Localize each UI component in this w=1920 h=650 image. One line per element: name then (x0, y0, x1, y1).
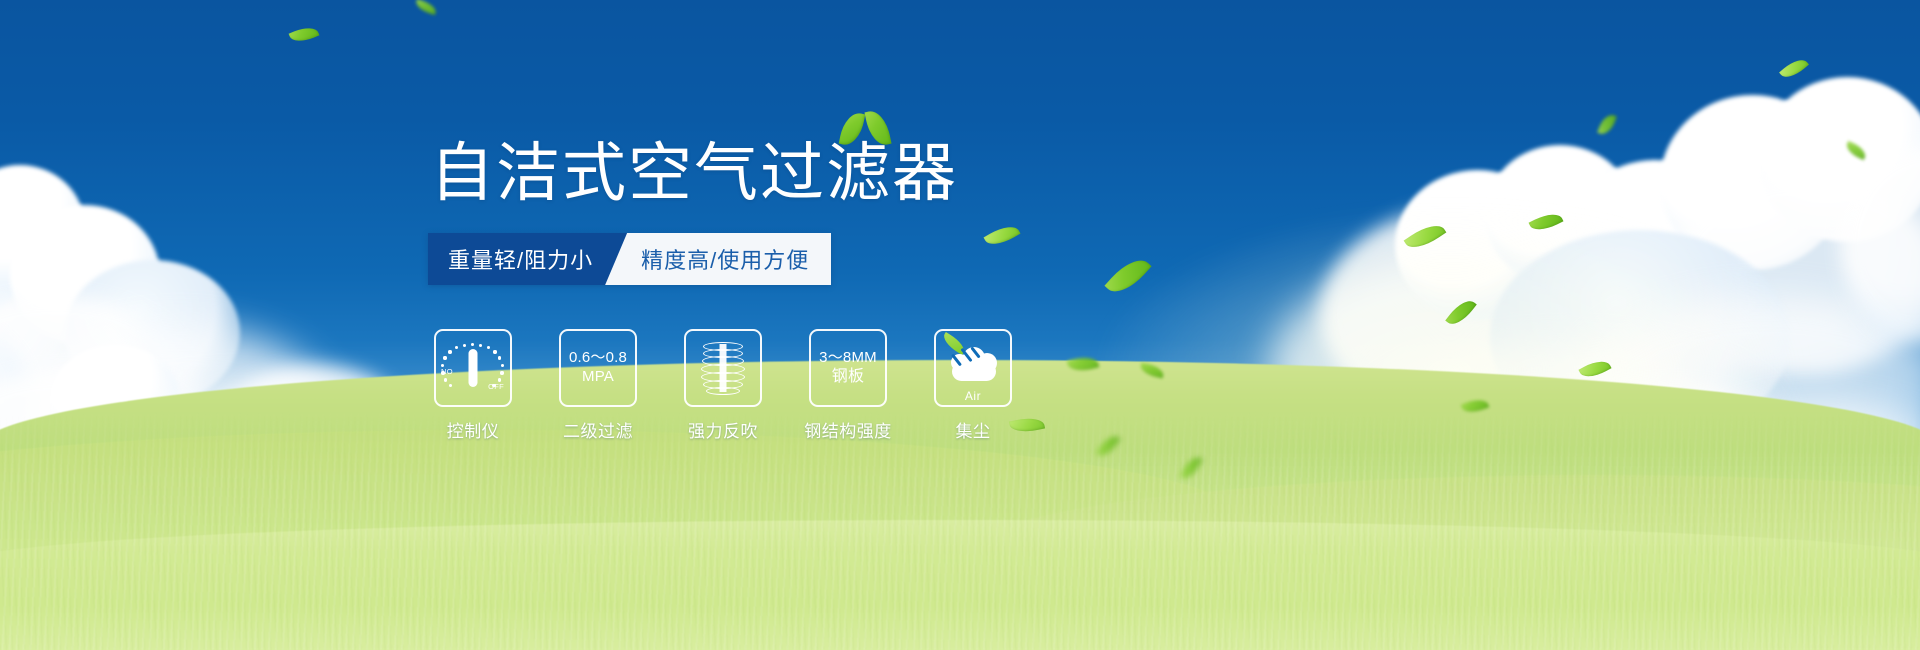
badge-secondary: 精度高/使用方便 (605, 233, 831, 285)
feature-item-pressure: 0.6～0.8 MPA 二级过滤 (559, 329, 637, 442)
page-title: 自洁式空气过滤器 (430, 141, 958, 205)
feature-label-blowback: 强力反吹 (688, 417, 758, 442)
badge-primary: 重量轻/阻力小 (428, 233, 627, 285)
steel-thickness-text: 3～8MM (819, 349, 877, 368)
pressure-unit-text: MPA (582, 368, 614, 387)
feature-label-dust: 集尘 (956, 417, 991, 442)
feature-box-dust: Air (934, 329, 1012, 407)
badge-secondary-label: 精度高/使用方便 (641, 243, 809, 275)
air-cloud-icon: Air (943, 342, 1003, 394)
banner-content: 自洁式空气过滤器 重量轻/阻力小 精度高/使用方便 (0, 0, 1920, 650)
dial-off-label: OFF (488, 382, 504, 391)
dial-pointer (469, 349, 478, 387)
dial-on-label: NO (441, 367, 453, 376)
feature-label-steel: 钢结构强度 (804, 417, 892, 442)
feature-list: NO OFF 控制仪 0.6～0.8 MPA 二级过滤 (434, 329, 1012, 442)
feature-box-blowback (684, 329, 762, 407)
feature-box-steel: 3～8MM 钢板 (809, 329, 887, 407)
filter-coil-icon (695, 340, 751, 396)
feature-item-steel: 3～8MM 钢板 钢结构强度 (809, 329, 887, 442)
feature-box-control: NO OFF (434, 329, 512, 407)
air-label: Air (943, 389, 1003, 403)
pressure-range-text: 0.6～0.8 (569, 349, 627, 368)
feature-item-dust: Air 集尘 (934, 329, 1012, 442)
feature-label-control: 控制仪 (447, 417, 500, 442)
control-dial-icon: NO OFF (442, 339, 504, 397)
badge-primary-label: 重量轻/阻力小 (448, 243, 593, 275)
feature-item-blowback: 强力反吹 (684, 329, 762, 442)
feature-item-control: NO OFF 控制仪 (434, 329, 512, 442)
steel-plate-text: 钢板 (832, 367, 864, 387)
feature-label-pressure: 二级过滤 (563, 417, 633, 442)
tagline-badges: 重量轻/阻力小 精度高/使用方便 (428, 233, 831, 285)
feature-box-pressure: 0.6～0.8 MPA (559, 329, 637, 407)
hero-banner: 自洁式空气过滤器 重量轻/阻力小 精度高/使用方便 (0, 0, 1920, 650)
